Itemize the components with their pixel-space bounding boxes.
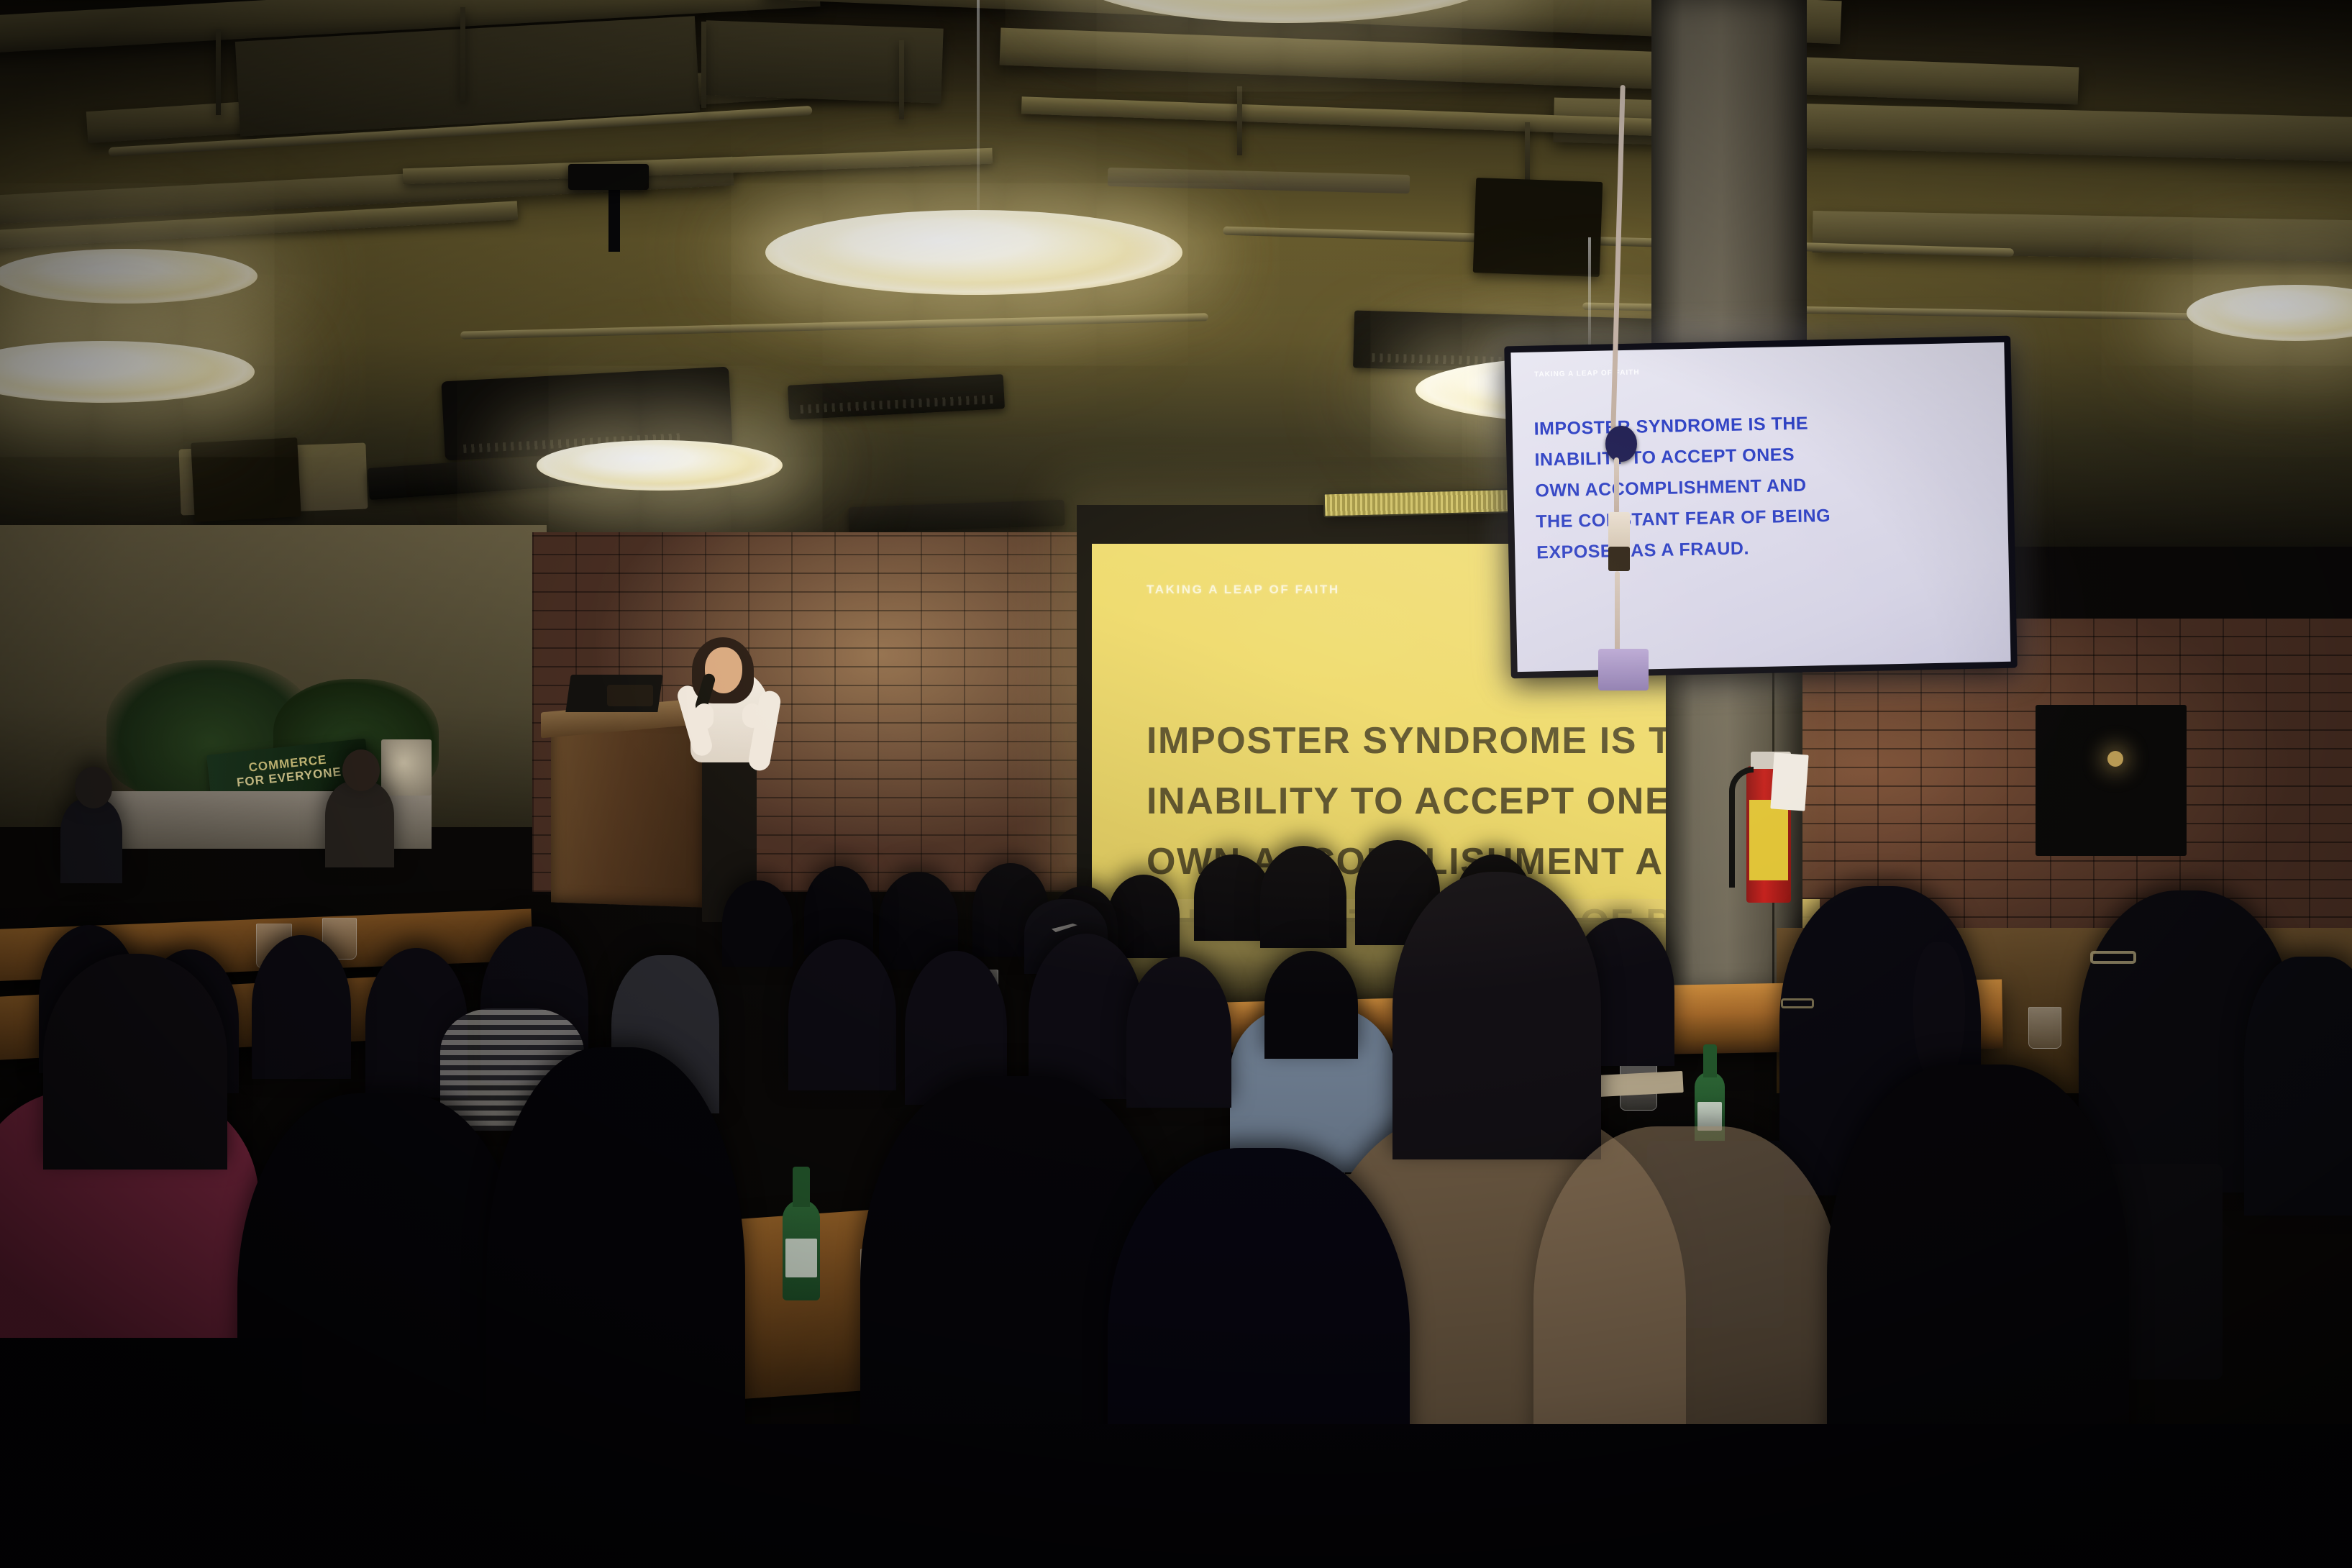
ceiling-speaker-left	[191, 437, 301, 522]
pendant-light-6	[537, 440, 783, 491]
podium-clutter	[607, 685, 653, 706]
fire-extinguisher-label	[1749, 800, 1788, 880]
tv-kicker-text: TAKING A LEAP OF FAITH	[1534, 368, 1640, 378]
event-photo-scene: TAKING A LEAP OF FAITH IMPOSTER SYNDROME…	[0, 0, 2352, 1568]
speaker-mic-hand	[695, 703, 714, 729]
napkin-stack	[1596, 1071, 1683, 1097]
slide-line-2: INABILITY TO ACCEPT ONES	[1147, 771, 1713, 831]
cable-ferrite-bead	[1605, 426, 1637, 462]
background-person-2	[325, 781, 394, 867]
slide-line-1: IMPOSTER SYNDROME IS THE	[1147, 711, 1713, 771]
background-person-1	[60, 798, 122, 883]
drinking-glass-6	[2028, 1007, 2061, 1049]
dark-doorway	[2036, 705, 2187, 856]
background-person-1-head	[75, 767, 112, 808]
audience-tan-coat-head	[1392, 872, 1601, 1159]
bottle-label	[785, 1239, 817, 1277]
audience-head-m4	[1264, 951, 1358, 1059]
slide-kicker-text: TAKING A LEAP OF FAITH	[1147, 583, 1340, 597]
audience-glasses-right	[2090, 951, 2136, 964]
audience-head-m1	[788, 939, 896, 1090]
audience-head-m5	[1126, 957, 1231, 1108]
audience-glasses-left	[1781, 998, 1814, 1008]
fire-extinguisher-hose	[1729, 767, 1754, 888]
speaker-gesturing-hand	[742, 703, 762, 728]
vga-connector	[1598, 649, 1649, 690]
foreground-shadow	[0, 1424, 2352, 1568]
audience-pink-sweater-head	[43, 954, 227, 1170]
wooden-podium	[551, 716, 702, 907]
wall-sconce	[2107, 751, 2123, 767]
overhead-light-strip	[1323, 488, 1526, 518]
tv-monitor-screen: TAKING A LEAP OF FAITH IMPOSTER SYNDROME…	[1510, 342, 2010, 672]
foil-wall-art	[381, 739, 432, 796]
audience-head-b5	[1108, 875, 1180, 958]
audience-head-m11	[252, 935, 351, 1079]
pendant-light-4	[0, 249, 257, 304]
background-person-2-head	[342, 749, 380, 791]
audience-head-b2	[1260, 846, 1346, 948]
audience-far-right	[2244, 957, 2352, 1216]
left-foreground-shadow	[0, 1338, 302, 1568]
pendant-light-2	[765, 210, 1182, 295]
tv-body-text: IMPOSTER SYNDROME IS THE INABILITY TO AC…	[1533, 404, 1995, 568]
fire-extinguisher-inspection-tag	[1770, 752, 1808, 811]
audience-head-b10	[722, 880, 793, 967]
ceiling-speaker-right	[1473, 178, 1603, 277]
tv-monitor: TAKING A LEAP OF FAITH IMPOSTER SYNDROME…	[1504, 336, 2018, 679]
projector-bracket	[568, 164, 649, 190]
